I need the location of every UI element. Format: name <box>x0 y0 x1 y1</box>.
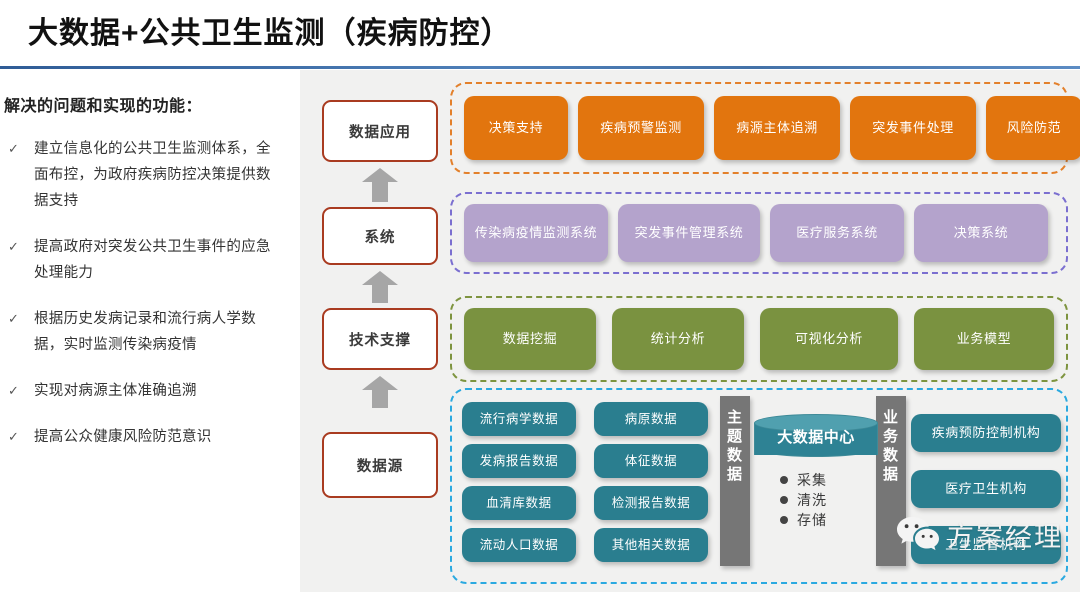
left-text-panel: 解决的问题和实现的功能： ✓ 建立信息化的公共卫生监测体系，全面布控，为政府疾病… <box>0 92 300 512</box>
app-chip-pathogen-tracing[interactable]: 病源主体追溯 <box>714 96 840 160</box>
app-chip-disease-warning[interactable]: 疾病预警监测 <box>578 96 704 160</box>
app-chip-decision-support[interactable]: 决策支持 <box>464 96 568 160</box>
up-arrow-icon <box>362 271 398 303</box>
check-icon: ✓ <box>8 306 34 332</box>
list-item: ✓ 实现对病源主体准确追溯 <box>0 378 300 404</box>
source-chip-epidemiology-data[interactable]: 流行病学数据 <box>462 402 576 436</box>
source-chip-serum-bank-data[interactable]: 血清库数据 <box>462 486 576 520</box>
tech-chip-statistical-analysis[interactable]: 统计分析 <box>612 308 744 370</box>
org-chip-cdc[interactable]: 疾病预防控制机构 <box>911 414 1061 452</box>
list-item: ✓ 建立信息化的公共卫生监测体系，全面布控，为政府疾病防控决策提供数据支持 <box>0 136 300 214</box>
check-icon: ✓ <box>8 424 34 450</box>
list-item-label: 采集 <box>797 470 827 490</box>
list-item: ✓ 提高公众健康风险防范意识 <box>0 424 300 450</box>
source-chip-physical-sign-data[interactable]: 体征数据 <box>594 444 708 478</box>
architecture-diagram: 数据应用 系统 技术支撑 数据源 决策支持 疾病预警监测 病源主体追溯 突发事件… <box>300 70 1080 592</box>
list-item-label: 建立信息化的公共卫生监测体系，全面布控，为政府疾病防控决策提供数据支持 <box>34 136 280 214</box>
big-data-center-steps: 采集 清洗 存储 <box>780 470 890 530</box>
list-item: 清洗 <box>780 490 890 510</box>
left-panel-heading: 解决的问题和实现的功能： <box>4 92 300 116</box>
up-arrow-icon <box>362 168 398 202</box>
system-chip-medical-service[interactable]: 医疗服务系统 <box>770 204 904 262</box>
big-data-center-label: 大数据中心 <box>754 426 878 447</box>
list-item: 存储 <box>780 510 890 530</box>
title-divider <box>0 66 1080 69</box>
system-chip-emergency-management[interactable]: 突发事件管理系统 <box>618 204 760 262</box>
tech-chip-visual-analysis[interactable]: 可视化分析 <box>760 308 898 370</box>
source-chip-morbidity-report-data[interactable]: 发病报告数据 <box>462 444 576 478</box>
org-chip-medical-institution[interactable]: 医疗卫生机构 <box>911 470 1061 508</box>
tech-chip-business-model[interactable]: 业务模型 <box>914 308 1054 370</box>
check-icon: ✓ <box>8 136 34 162</box>
layer-box-data-source[interactable]: 数据源 <box>322 432 438 498</box>
list-item-label: 清洗 <box>797 490 827 510</box>
bullet-dot-icon <box>780 476 788 484</box>
big-data-center-cylinder[interactable]: 大数据中心 <box>754 414 878 462</box>
source-chip-floating-population-data[interactable]: 流动人口数据 <box>462 528 576 562</box>
source-chip-pathogen-data[interactable]: 病原数据 <box>594 402 708 436</box>
app-chip-emergency-handling[interactable]: 突发事件处理 <box>850 96 976 160</box>
layer-box-system[interactable]: 系统 <box>322 207 438 265</box>
check-icon: ✓ <box>8 234 34 260</box>
layer-box-technical-support[interactable]: 技术支撑 <box>322 308 438 370</box>
list-item-label: 提高公众健康风险防范意识 <box>34 424 280 450</box>
vertical-bar-subject-data: 主题数据 <box>720 396 750 566</box>
check-icon: ✓ <box>8 378 34 404</box>
list-item: ✓ 提高政府对突发公共卫生事件的应急处理能力 <box>0 234 300 286</box>
list-item-label: 存储 <box>797 510 827 530</box>
vertical-bar-subject-data-label: 主题数据 <box>720 408 750 484</box>
list-item-label: 实现对病源主体准确追溯 <box>34 378 280 404</box>
bullet-dot-icon <box>780 496 788 504</box>
tech-chip-data-mining[interactable]: 数据挖掘 <box>464 308 596 370</box>
bullet-dot-icon <box>780 516 788 524</box>
list-item: ✓ 根据历史发病记录和流行病人学数据，实时监测传染病疫情 <box>0 306 300 358</box>
list-item-label: 根据历史发病记录和流行病人学数据，实时监测传染病疫情 <box>34 306 280 358</box>
org-chip-health-supervision[interactable]: 卫生监督机构 <box>911 526 1061 564</box>
page-title: 大数据+公共卫生监测（疾病防控） <box>28 8 512 52</box>
source-chip-other-related-data[interactable]: 其他相关数据 <box>594 528 708 562</box>
system-chip-decision[interactable]: 决策系统 <box>914 204 1048 262</box>
system-chip-epidemic-monitoring[interactable]: 传染病疫情监测系统 <box>464 204 608 262</box>
app-chip-risk-prevention[interactable]: 风险防范 <box>986 96 1080 160</box>
layer-box-data-application[interactable]: 数据应用 <box>322 100 438 162</box>
source-chip-test-report-data[interactable]: 检测报告数据 <box>594 486 708 520</box>
list-item: 采集 <box>780 470 890 490</box>
up-arrow-icon <box>362 376 398 408</box>
list-item-label: 提高政府对突发公共卫生事件的应急处理能力 <box>34 234 280 286</box>
